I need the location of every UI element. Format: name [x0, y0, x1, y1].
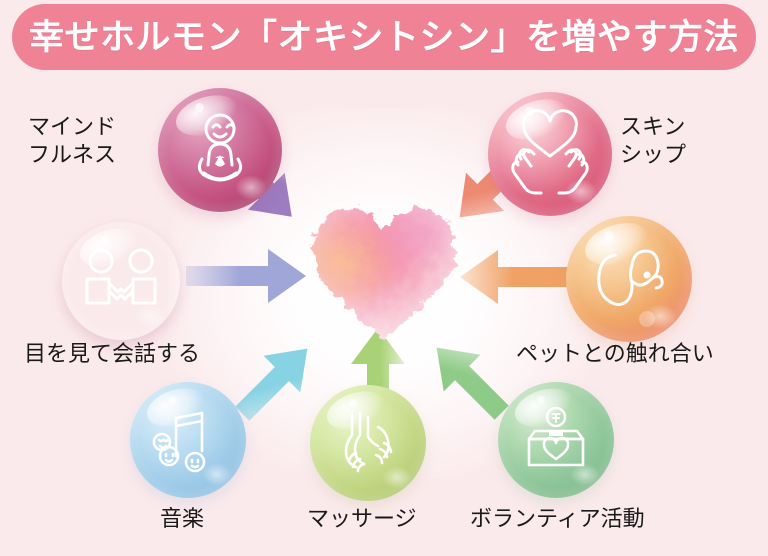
bubble-volunteer[interactable]	[498, 382, 614, 498]
page-title: 幸せホルモン「オキシトシン」を増やす方法	[29, 20, 739, 55]
oxytocin-heart	[300, 195, 468, 345]
title-banner: 幸せホルモン「オキシトシン」を増やす方法	[12, 4, 756, 70]
label-mindfulness: マインド フルネス	[28, 113, 116, 168]
arrow-pet	[460, 250, 580, 304]
hands-holding-heart-icon	[488, 92, 612, 216]
bubble-music[interactable]	[130, 382, 246, 498]
label-massage: マッサージ	[307, 505, 417, 533]
two-people-handshake-icon	[62, 222, 180, 340]
massaging-hands-icon	[310, 385, 426, 501]
label-skinship: スキン シップ	[620, 113, 686, 168]
label-volunteer: ボランティア活動	[470, 505, 645, 533]
label-eye-contact: 目を見て会話する	[24, 340, 200, 368]
label-pet: ペットとの触れ合い	[516, 340, 714, 368]
bubble-mindfulness[interactable]	[158, 88, 282, 212]
bubble-eye-contact[interactable]	[62, 222, 180, 340]
meditating-person-icon	[158, 88, 282, 212]
label-music: 音楽	[160, 505, 204, 533]
dog-face-icon	[566, 216, 692, 342]
bubble-skinship[interactable]	[488, 92, 612, 216]
arrow-eye-contact	[186, 249, 306, 303]
bubble-massage[interactable]	[310, 385, 426, 501]
infographic-canvas: 幸せホルモン「オキシトシン」を増やす方法	[0, 0, 768, 556]
donation-box-heart-icon	[498, 382, 614, 498]
bubble-pet[interactable]	[566, 216, 692, 342]
smiling-music-notes-icon	[130, 382, 246, 498]
